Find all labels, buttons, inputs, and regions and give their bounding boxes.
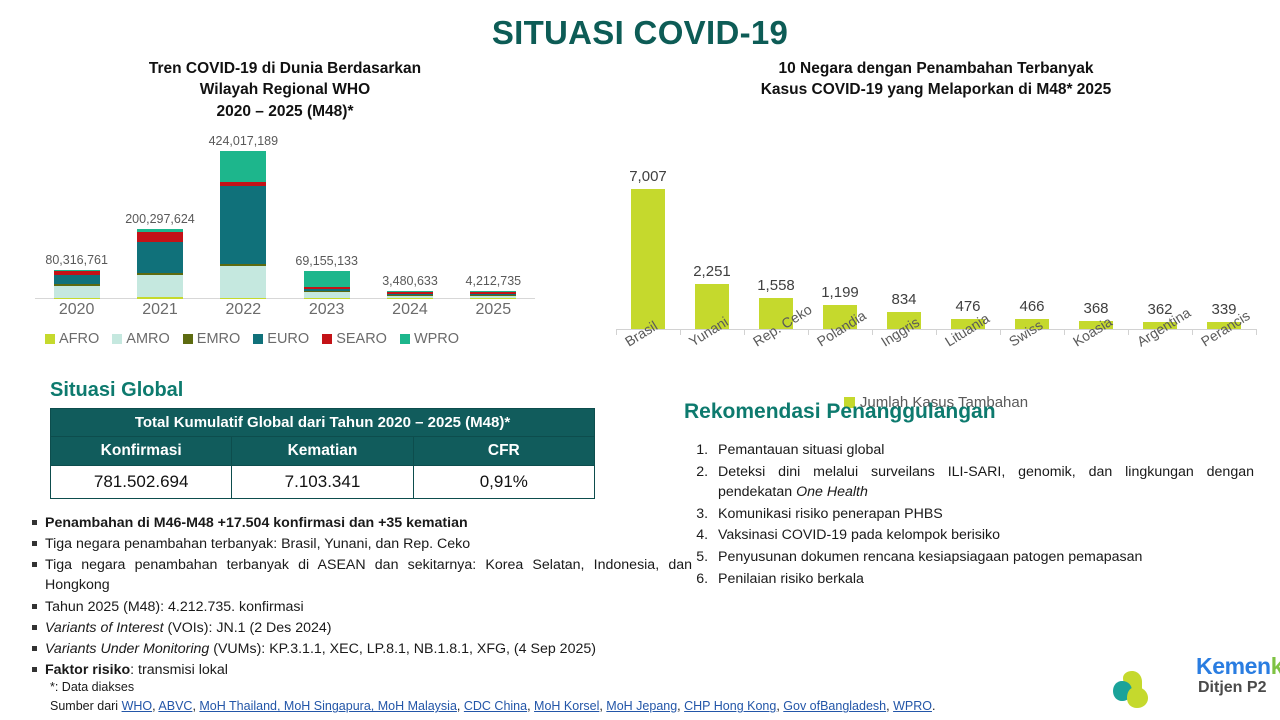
- bullet-text: Tiga negara penambahan terbanyak: Brasil…: [45, 534, 692, 554]
- trend-segment-wpro-2023: [304, 271, 350, 287]
- footer-link-abvc[interactable]: ABVC: [158, 699, 192, 713]
- situasi-global-section: Situasi Global Total Kumulatif Global da…: [50, 379, 610, 499]
- trend-bar-2025: [457, 291, 529, 299]
- bullet-marker-icon: [32, 562, 37, 567]
- trend-chart-title: Tren COVID-19 di Dunia Berdasarkan Wilay…: [25, 58, 545, 122]
- legend-swatch-wpro: [400, 334, 410, 344]
- footer-link-moh-thailand-moh-singapura-moh-malaysia[interactable]: MoH Thailand, MoH Singapura, MoH Malaysi…: [199, 699, 457, 713]
- kemenkes-logo-icon: [1112, 669, 1160, 709]
- legend-item-afro: AFRO: [45, 331, 99, 347]
- kemenkes-logo: Kemenkes Ditjen P2: [1112, 665, 1272, 720]
- bullet-text: Variants of Interest (VOIs): JN.1 (2 Des…: [45, 618, 692, 638]
- bullet-item: Penambahan di M46-M48 +17.504 konfirmasi…: [32, 513, 692, 533]
- legend-item-emro: EMRO: [183, 331, 241, 347]
- country-bar-swiss: 466: [1000, 115, 1064, 329]
- kemenkes-logo-name: Kemenkes: [1196, 653, 1280, 680]
- top-countries-title-line1: 10 Negara dengan Penambahan Terbanyak: [600, 58, 1272, 79]
- rekomendasi-item: Deteksi dini melalui surveilans ILI-SARI…: [712, 462, 1254, 503]
- country-bar-koasia: 368: [1064, 115, 1128, 329]
- kemenkes-name-part2: kes: [1271, 653, 1280, 679]
- trend-chart-title-line3: 2020 – 2025 (M48)*: [25, 101, 545, 122]
- bullet-plain-text: Tiga negara penambahan terbanyak: Brasil…: [45, 536, 470, 552]
- table-row: 781.502.694 7.103.341 0,91%: [51, 466, 595, 499]
- country-value-label-swiss: 466: [1019, 298, 1044, 315]
- bullet-bold-text: Faktor risiko: [45, 662, 130, 678]
- country-bar-yunani: 2,251: [680, 115, 744, 329]
- footer-separator: ,: [527, 699, 534, 713]
- legend-swatch-emro: [183, 334, 193, 344]
- trend-chart-legend: AFROAMROEMROEUROSEAROWPRO: [45, 331, 570, 347]
- bullet-item: Tiga negara penambahan terbanyak di ASEA…: [32, 555, 692, 595]
- country-bar-lituania: 476: [936, 115, 1000, 329]
- country-bar-argentina: 362: [1128, 115, 1192, 329]
- trend-x-label-2023: 2023: [285, 301, 368, 325]
- footer-separator: .: [932, 699, 935, 713]
- country-value-label-yunani: 2,251: [693, 263, 731, 280]
- table-span-header: Total Kumulatif Global dari Tahun 2020 –…: [51, 409, 595, 437]
- country-bar-perancis: 339: [1192, 115, 1256, 329]
- footer-data-accessed: *: Data diakses: [50, 678, 1080, 697]
- trend-segment-afro-2025: [470, 298, 516, 299]
- footer-link-chp-hong-kong[interactable]: CHP Hong Kong: [684, 699, 776, 713]
- top-countries-chart-title: 10 Negara dengan Penambahan Terbanyak Ka…: [600, 58, 1272, 101]
- trend-segment-searo-2021: [137, 232, 183, 242]
- trend-segment-afro-2024: [387, 298, 433, 299]
- country-bar-rep-ceko: 1,558: [744, 115, 808, 329]
- rekomendasi-item: Komunikasi risiko penerapan PHBS: [712, 504, 1254, 525]
- bullet-bold-text: Penambahan di M46-M48 +17.504 konfirmasi…: [45, 515, 468, 531]
- footer-link-cdc-china[interactable]: CDC China: [464, 699, 527, 713]
- country-bar-polandia: 1,199: [808, 115, 872, 329]
- bullet-text: Penambahan di M46-M48 +17.504 konfirmasi…: [45, 513, 692, 533]
- legend-item-wpro: WPRO: [400, 331, 459, 347]
- legend-swatch-amro: [112, 334, 122, 344]
- trend-segment-afro-2021: [137, 297, 183, 299]
- bullet-plain-text: (VUMs): KP.3.1.1, XEC, LP.8.1, NB.1.8.1,…: [209, 641, 596, 657]
- trend-bar-2021: [124, 229, 196, 299]
- trend-value-label-2023: 69,155,133: [267, 254, 387, 268]
- rekomendasi-item: Vaksinasi COVID-19 pada kelompok berisik…: [712, 525, 1254, 546]
- country-bar-brasil: 7,007: [616, 115, 680, 329]
- trend-bar-2022: [207, 151, 279, 299]
- bullet-marker-icon: [32, 520, 37, 525]
- rekomendasi-item: Penilaian risiko berkala: [712, 569, 1254, 590]
- country-value-label-rep-ceko: 1,558: [757, 277, 795, 294]
- footer-sources: Sumber dari WHO, ABVC, MoH Thailand, MoH…: [50, 697, 1080, 716]
- bullet-text: Tahun 2025 (M48): 4.212.735. konfirmasi: [45, 597, 692, 617]
- trend-segment-euro-2020: [54, 275, 100, 284]
- legend-label-amro: AMRO: [126, 331, 170, 347]
- footer-link-wpro[interactable]: WPRO: [893, 699, 932, 713]
- bullet-item: Variants of Interest (VOIs): JN.1 (2 Des…: [32, 618, 692, 638]
- legend-label-afro: AFRO: [59, 331, 99, 347]
- rekomendasi-list: Pemantauan situasi globalDeteksi dini me…: [684, 440, 1254, 589]
- rekomendasi-item-text: Pemantauan situasi global: [718, 442, 884, 458]
- bullet-italic-text: Variants of Interest: [45, 620, 164, 636]
- table-col-kematian: Kematian: [232, 437, 413, 466]
- trend-chart-plot: 202020212022202320242025 80,316,761200,2…: [25, 130, 545, 325]
- trend-x-label-2022: 2022: [202, 301, 285, 325]
- country-bar-rect-brasil: [631, 189, 665, 329]
- legend-label-wpro: WPRO: [414, 331, 459, 347]
- trend-segment-afro-2020: [54, 298, 100, 299]
- slide-root: SITUASI COVID-19 Tren COVID-19 di Dunia …: [0, 0, 1280, 720]
- trend-bar-2024: [374, 291, 446, 299]
- bullet-item: Tiga negara penambahan terbanyak: Brasil…: [32, 534, 692, 554]
- trend-chart-title-line2: Wilayah Regional WHO: [25, 79, 545, 100]
- footer-link-who[interactable]: WHO: [122, 699, 153, 713]
- legend-label-searo: SEARO: [336, 331, 387, 347]
- trend-x-label-2025: 2025: [452, 301, 535, 325]
- trend-bar-2020: [41, 270, 113, 299]
- bullet-plain-text: Tiga negara penambahan terbanyak di ASEA…: [45, 557, 692, 593]
- rekomendasi-item-text: Penilaian risiko berkala: [718, 571, 864, 587]
- situasi-global-heading: Situasi Global: [50, 379, 610, 402]
- trend-segment-amro-2021: [137, 275, 183, 297]
- footer: *: Data diakses Sumber dari WHO, ABVC, M…: [50, 678, 1080, 717]
- rekomendasi-item: Penyusunan dokumen rencana kesiapsiagaan…: [712, 547, 1254, 568]
- trend-value-label-2022: 424,017,189: [183, 134, 303, 148]
- legend-label-emro: EMRO: [197, 331, 241, 347]
- country-value-label-polandia: 1,199: [821, 284, 859, 301]
- rekomendasi-item-text: Penyusunan dokumen rencana kesiapsiagaan…: [718, 549, 1142, 565]
- top-countries-plot: 7,0072,2511,5581,199834476466368362339: [600, 115, 1272, 330]
- top-countries-title-line2: Kasus COVID-19 yang Melaporkan di M48* 2…: [600, 79, 1272, 100]
- country-value-label-brasil: 7,007: [629, 168, 667, 185]
- legend-item-amro: AMRO: [112, 331, 170, 347]
- bullet-text: Tiga negara penambahan terbanyak di ASEA…: [45, 555, 692, 595]
- bullet-marker-icon: [32, 604, 37, 609]
- footer-link-moh-korsel[interactable]: MoH Korsel: [534, 699, 599, 713]
- trend-chart-x-labels: 202020212022202320242025: [35, 301, 535, 325]
- bullet-text: Variants Under Monitoring (VUMs): KP.3.1…: [45, 639, 692, 659]
- rekomendasi-item: Pemantauan situasi global: [712, 440, 1254, 461]
- trend-segment-euro-2021: [137, 242, 183, 273]
- trend-x-label-2020: 2020: [35, 301, 118, 325]
- rekomendasi-item-italic: One Health: [796, 484, 868, 500]
- bullet-marker-icon: [32, 625, 37, 630]
- trend-segment-amro-2022: [220, 266, 266, 298]
- bullet-marker-icon: [32, 541, 37, 546]
- bullet-plain-text: : transmisi lokal: [130, 662, 228, 678]
- situasi-bullet-list: Penambahan di M46-M48 +17.504 konfirmasi…: [32, 513, 692, 681]
- top-countries-chart: 10 Negara dengan Penambahan Terbanyak Ka…: [600, 58, 1272, 411]
- country-value-label-inggris: 834: [891, 291, 916, 308]
- trend-chart: Tren COVID-19 di Dunia Berdasarkan Wilay…: [25, 58, 570, 347]
- trend-value-label-2021: 200,297,624: [100, 212, 220, 226]
- rekomendasi-heading: Rekomendasi Penanggulangan: [684, 400, 1254, 424]
- table-header-span-row: Total Kumulatif Global dari Tahun 2020 –…: [51, 409, 595, 437]
- trend-segment-wpro-2022: [220, 151, 266, 182]
- footer-sources-prefix: Sumber dari: [50, 699, 122, 713]
- kemenkes-name-part1: Kemen: [1196, 653, 1271, 679]
- bullet-plain-text: (VOIs): JN.1 (2 Des 2024): [164, 620, 332, 636]
- legend-swatch-searo: [322, 334, 332, 344]
- legend-item-searo: SEARO: [322, 331, 387, 347]
- legend-swatch-afro: [45, 334, 55, 344]
- bullet-item: Variants Under Monitoring (VUMs): KP.3.1…: [32, 639, 692, 659]
- table-cell-kematian: 7.103.341: [232, 466, 413, 499]
- legend-swatch-euro: [253, 334, 263, 344]
- table-cell-cfr: 0,91%: [413, 466, 594, 499]
- bullet-marker-icon: [32, 667, 37, 672]
- footer-link-moh-jepang[interactable]: MoH Jepang: [606, 699, 677, 713]
- trend-chart-title-line1: Tren COVID-19 di Dunia Berdasarkan: [25, 58, 545, 79]
- bullet-italic-text: Variants Under Monitoring: [45, 641, 209, 657]
- trend-segment-amro-2020: [54, 286, 100, 298]
- table-col-cfr: CFR: [413, 437, 594, 466]
- legend-item-euro: EURO: [253, 331, 309, 347]
- trend-x-label-2021: 2021: [118, 301, 201, 325]
- trend-segment-afro-2023: [304, 298, 350, 299]
- legend-label-euro: EURO: [267, 331, 309, 347]
- trend-x-label-2024: 2024: [368, 301, 451, 325]
- bullet-plain-text: Tahun 2025 (M48): 4.212.735. konfirmasi: [45, 599, 304, 615]
- table-cell-konfirmasi: 781.502.694: [51, 466, 232, 499]
- trend-value-label-2025: 4,212,735: [433, 274, 553, 288]
- rekomendasi-section: Rekomendasi Penanggulangan Pemantauan si…: [684, 400, 1254, 590]
- bullet-item: Tahun 2025 (M48): 4.212.735. konfirmasi: [32, 597, 692, 617]
- global-cumulative-table: Total Kumulatif Global dari Tahun 2020 –…: [50, 408, 595, 499]
- trend-segment-afro-2022: [220, 298, 266, 299]
- table-col-konfirmasi: Konfirmasi: [51, 437, 232, 466]
- trend-segment-euro-2022: [220, 186, 266, 263]
- footer-link-gov-ofbangladesh[interactable]: Gov ofBangladesh: [783, 699, 886, 713]
- footer-separator: ,: [457, 699, 464, 713]
- kemenkes-logo-subtitle: Ditjen P2: [1198, 679, 1266, 697]
- rekomendasi-item-text: Vaksinasi COVID-19 pada kelompok berisik…: [718, 527, 1000, 543]
- page-title: SITUASI COVID-19: [0, 14, 1280, 52]
- country-bar-inggris: 834: [872, 115, 936, 329]
- rekomendasi-item-text: Komunikasi risiko penerapan PHBS: [718, 506, 943, 522]
- trend-value-label-2020: 80,316,761: [17, 253, 137, 267]
- bullet-marker-icon: [32, 646, 37, 651]
- table-header-row: Konfirmasi Kematian CFR: [51, 437, 595, 466]
- top-countries-x-labels: BrasilYunaniRep. CekoPolandiaInggrisLitu…: [600, 330, 1272, 392]
